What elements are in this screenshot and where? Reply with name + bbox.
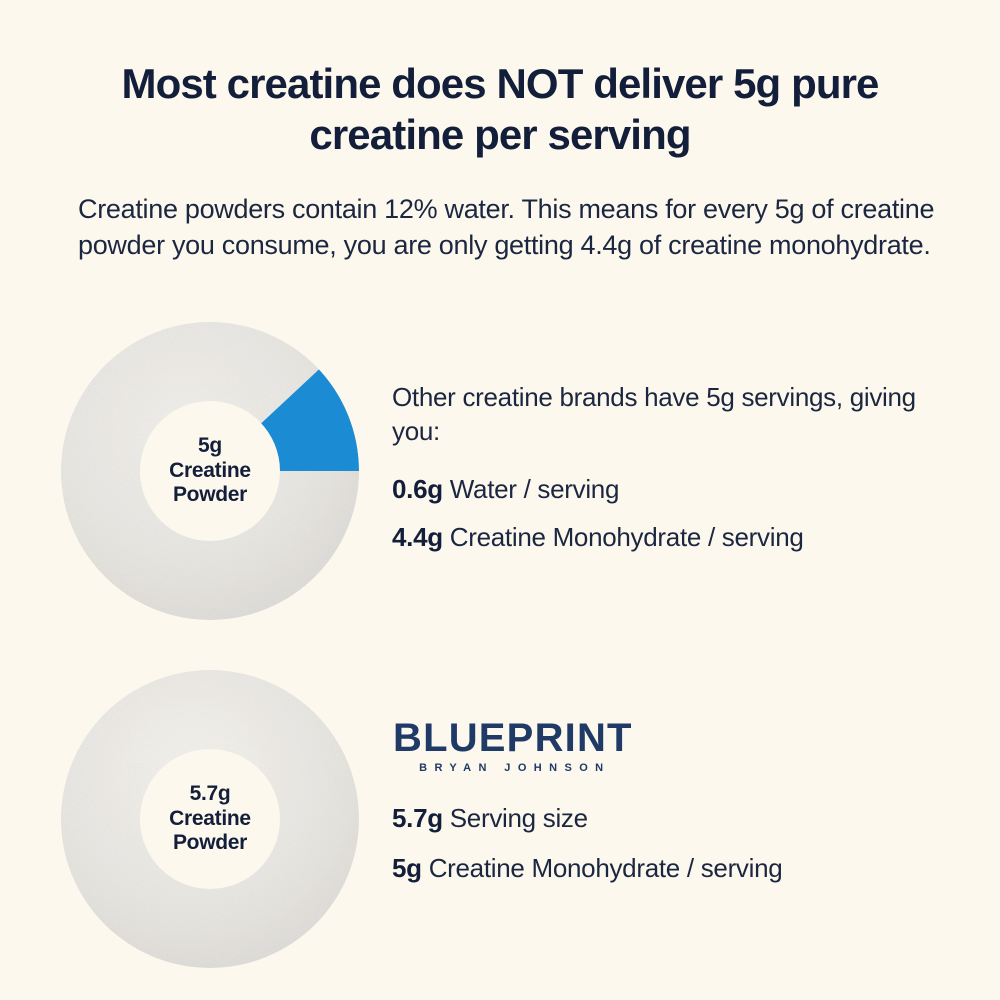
- donut-center-label-blueprint: 5.7g Creatine Powder: [140, 749, 280, 889]
- blueprint-logo: BLUEPRINT BRYAN JOHNSON: [393, 718, 633, 774]
- blueprint-tagline: BRYAN JOHNSON: [393, 763, 633, 774]
- stat-label: Creatine Monohydrate / serving: [429, 853, 783, 883]
- stat-blueprint-creatine-per-serving: 5g Creatine Monohydrate / serving: [392, 853, 782, 884]
- stat-label: Creatine Monohydrate / serving: [450, 522, 804, 552]
- donut-center-label-other-brands: 5g Creatine Powder: [140, 401, 280, 541]
- donut-center-line-2: Creatine: [169, 807, 251, 832]
- stat-amount: 5.7g: [392, 803, 443, 833]
- other-brands-lede: Other creatine brands have 5g servings, …: [392, 380, 952, 449]
- stat-label: Serving size: [450, 803, 588, 833]
- donut-center-line-1: 5.7g: [190, 782, 231, 807]
- page-subtitle: Creatine powders contain 12% water. This…: [78, 192, 944, 264]
- blueprint-wordmark: BLUEPRINT: [393, 718, 633, 758]
- stat-water-per-serving: 0.6g Water / serving: [392, 474, 619, 505]
- donut-center-line-1: 5g: [198, 434, 222, 459]
- infographic-page: Most creatine does NOT deliver 5g pure c…: [0, 0, 1000, 1000]
- page-title: Most creatine does NOT deliver 5g pure c…: [70, 58, 930, 160]
- stat-amount: 0.6g: [392, 474, 443, 504]
- stat-amount: 5g: [392, 853, 422, 883]
- stat-serving-size: 5.7g Serving size: [392, 803, 588, 834]
- donut-center-line-2: Creatine: [169, 459, 251, 484]
- donut-chart-blueprint: 5.7g Creatine Powder: [61, 670, 359, 968]
- donut-center-line-3: Powder: [173, 831, 247, 856]
- stat-label: Water / serving: [450, 474, 619, 504]
- stat-creatine-per-serving: 4.4g Creatine Monohydrate / serving: [392, 522, 804, 553]
- donut-chart-other-brands: 5g Creatine Powder: [61, 322, 359, 620]
- donut-center-line-3: Powder: [173, 483, 247, 508]
- stat-amount: 4.4g: [392, 522, 443, 552]
